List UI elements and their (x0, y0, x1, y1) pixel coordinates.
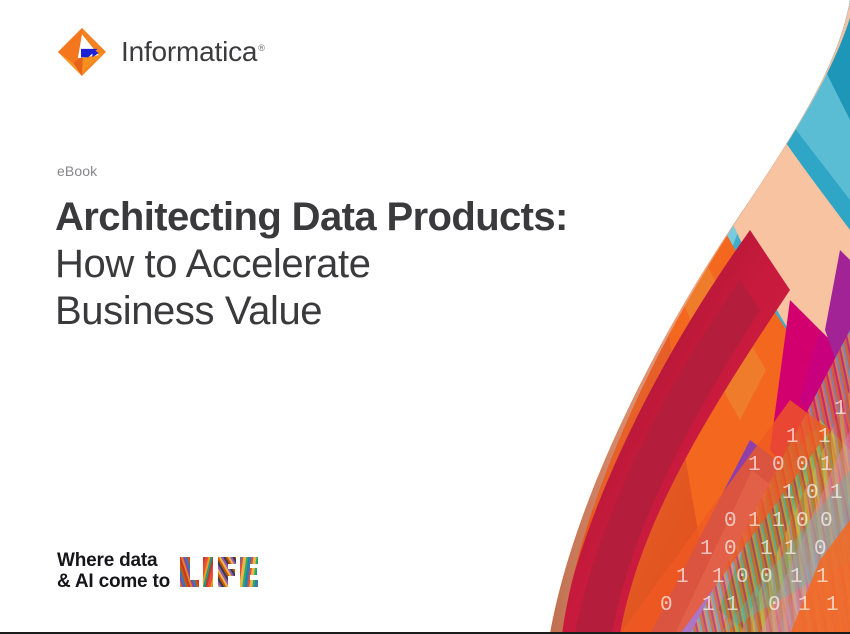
svg-text:0: 0 (814, 538, 827, 561)
svg-text:0: 0 (724, 510, 737, 533)
svg-text:1: 1 (782, 482, 795, 505)
svg-text:0: 0 (768, 594, 781, 617)
title-line-2: How to Accelerate (55, 241, 675, 288)
svg-text:1: 1 (676, 566, 689, 589)
svg-text:0: 0 (820, 510, 833, 533)
svg-text:1: 1 (786, 426, 799, 449)
svg-text:0: 0 (772, 454, 785, 477)
svg-text:1: 1 (748, 510, 761, 533)
svg-text:1: 1 (748, 454, 761, 477)
svg-text:1: 1 (816, 566, 829, 589)
svg-text:1: 1 (712, 566, 725, 589)
informatica-diamond-logo-icon (56, 26, 108, 78)
svg-text:1: 1 (834, 398, 847, 421)
brand-tagline: Where data & AI come to (57, 551, 260, 592)
svg-text:1: 1 (826, 594, 839, 617)
svg-text:1: 1 (784, 538, 797, 561)
svg-text:0: 0 (796, 510, 809, 533)
tagline-line-1: Where data (57, 550, 157, 571)
svg-text:0: 0 (736, 566, 749, 589)
informatica-logo: Informatica® (56, 26, 265, 78)
svg-text:1: 1 (702, 594, 715, 617)
svg-text:1: 1 (798, 594, 811, 617)
svg-text:0: 0 (724, 538, 737, 561)
wordmark-text: Informatica (121, 36, 257, 67)
svg-text:0: 0 (660, 594, 673, 617)
svg-text:1: 1 (820, 454, 833, 477)
tagline-line-2: & AI come to (57, 571, 170, 592)
life-wordmark-icon (178, 555, 260, 589)
svg-text:1: 1 (760, 538, 773, 561)
content-type-label: eBook (57, 163, 97, 179)
trademark-symbol: ® (258, 43, 264, 53)
tagline-text: Where data & AI come to (57, 551, 170, 592)
svg-text:1: 1 (830, 482, 843, 505)
svg-text:1: 1 (700, 538, 713, 561)
svg-text:1: 1 (818, 426, 831, 449)
page-title: Architecting Data Products: How to Accel… (55, 194, 675, 334)
svg-text:1: 1 (726, 594, 739, 617)
svg-text:0: 0 (796, 454, 809, 477)
title-line-1: Architecting Data Products: (55, 194, 675, 241)
informatica-wordmark: Informatica® (121, 38, 265, 66)
ebook-cover-page: 1 0 0 1 1 0 1 0 1 1 0 0 1 0 1 1 0 (0, 0, 850, 634)
svg-text:0: 0 (760, 566, 773, 589)
svg-text:1: 1 (772, 510, 785, 533)
title-line-3: Business Value (55, 288, 675, 335)
svg-text:1: 1 (790, 566, 803, 589)
svg-text:0: 0 (806, 482, 819, 505)
